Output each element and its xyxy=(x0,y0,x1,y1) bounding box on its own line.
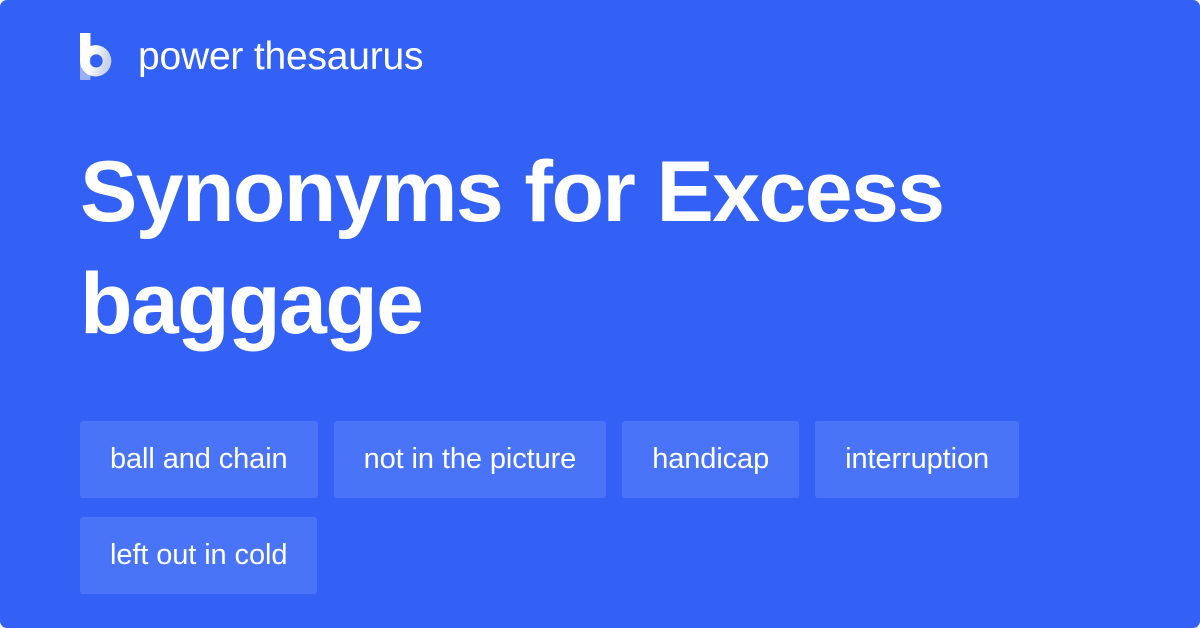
synonym-chip[interactable]: interruption xyxy=(815,421,1019,498)
brand-wordmark: power thesaurus xyxy=(138,37,423,76)
synonym-chip[interactable]: handicap xyxy=(622,421,799,498)
synonym-chip[interactable]: left out in cold xyxy=(80,517,317,594)
power-thesaurus-b-mark-icon xyxy=(80,33,114,80)
synonym-chip[interactable]: not in the picture xyxy=(334,421,607,498)
open-graph-card: power thesaurus Synonyms for Excess bagg… xyxy=(0,0,1200,628)
brand-logo[interactable]: power thesaurus xyxy=(80,30,423,82)
synonym-chip-list: ball and chain not in the picture handic… xyxy=(80,421,1080,594)
synonym-chip[interactable]: ball and chain xyxy=(80,421,318,498)
page-title: Synonyms for Excess baggage xyxy=(80,136,1040,360)
